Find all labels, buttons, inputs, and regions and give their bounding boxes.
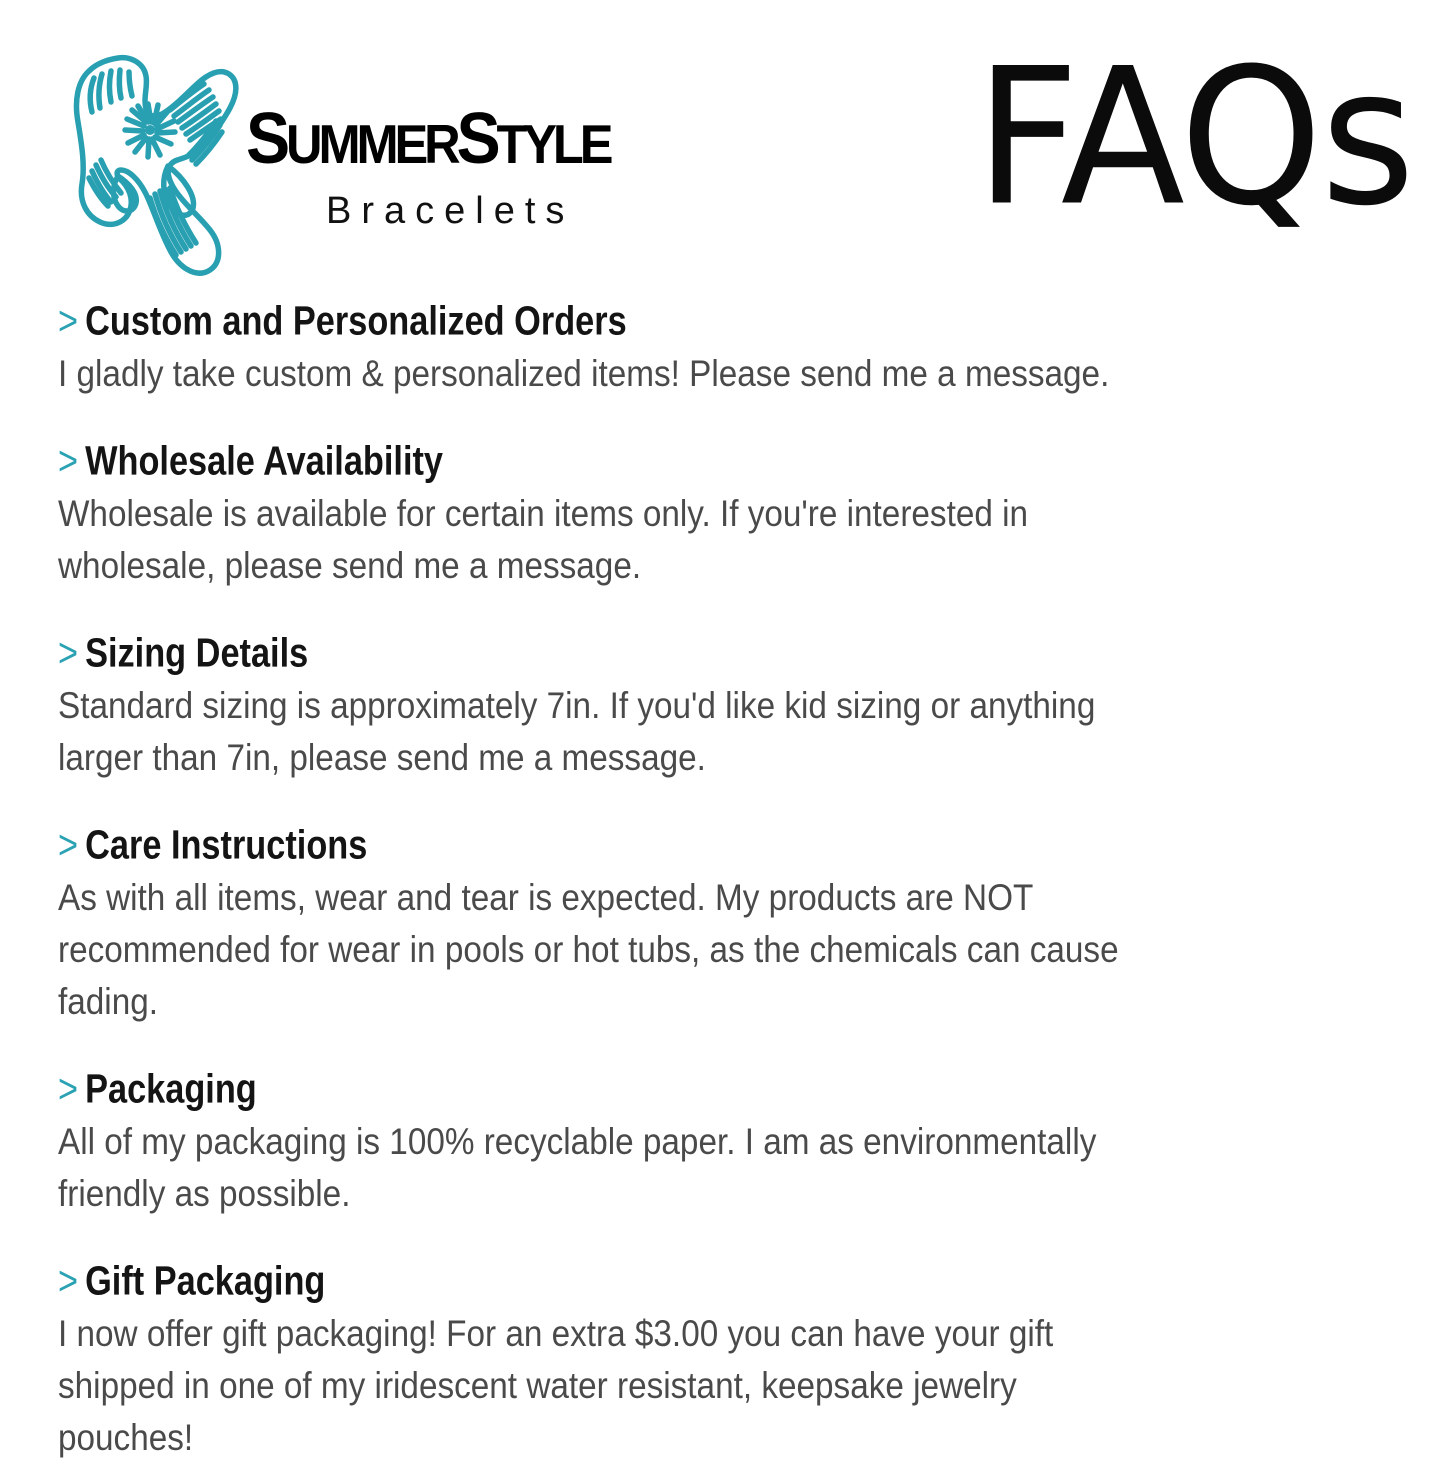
chevron-right-icon: > [58, 1067, 85, 1112]
faq-heading[interactable]: >Sizing Details [58, 628, 1096, 680]
faq-heading-label: Wholesale Availability [85, 439, 443, 484]
chevron-right-icon: > [58, 299, 85, 344]
faq-item-gift-packaging: >Gift Packaging I now offer gift packagi… [58, 1256, 1238, 1464]
faq-heading[interactable]: >Care Instructions [58, 820, 1096, 872]
faq-heading-label: Gift Packaging [85, 1259, 325, 1304]
brand-wordmark: SUMMERSTYLE Bracelets [246, 100, 666, 260]
faq-heading[interactable]: >Custom and Personalized Orders [58, 296, 1096, 348]
chevron-right-icon: > [58, 823, 85, 868]
brand-name-s2: S [456, 99, 496, 179]
faq-heading[interactable]: >Packaging [58, 1064, 1096, 1116]
faq-heading[interactable]: >Gift Packaging [58, 1256, 1096, 1308]
faq-item-packaging: >Packaging All of my packaging is 100% r… [58, 1064, 1238, 1220]
page-title-wrap: FAQs [975, 34, 1395, 239]
faq-item-sizing: >Sizing Details Standard sizing is appro… [58, 628, 1238, 784]
faq-body: Standard sizing is approximately 7in. If… [58, 680, 1120, 784]
faq-body: As with all items, wear and tear is expe… [58, 872, 1120, 1028]
page-header: SUMMERSTYLE Bracelets FAQs [0, 0, 1445, 292]
chevron-right-icon: > [58, 1259, 85, 1304]
chevron-right-icon: > [58, 631, 85, 676]
faq-page: SUMMERSTYLE Bracelets FAQs >Custom and P… [0, 0, 1445, 1445]
faq-body: Wholesale is available for certain items… [58, 488, 1120, 592]
brand-subtitle: Bracelets [326, 189, 666, 233]
chevron-right-icon: > [58, 439, 85, 484]
brand-name-ummer: UMMER [286, 113, 456, 175]
faq-heading-label: Packaging [85, 1067, 257, 1112]
faq-body: All of my packaging is 100% recyclable p… [58, 1116, 1120, 1220]
faq-body: I now offer gift packaging! For an extra… [58, 1308, 1120, 1464]
faq-item-wholesale: >Wholesale Availability Wholesale is ava… [58, 436, 1238, 592]
brand-name-tyle: TYLE [497, 113, 610, 175]
faq-item-care: >Care Instructions As with all items, we… [58, 820, 1238, 1028]
faq-heading-label: Care Instructions [85, 823, 367, 868]
faq-heading[interactable]: >Wholesale Availability [58, 436, 1096, 488]
starfish-icon [58, 26, 258, 288]
faq-item-custom-orders: >Custom and Personalized Orders I gladly… [58, 296, 1238, 400]
faq-heading-label: Custom and Personalized Orders [85, 299, 627, 344]
faq-list: >Custom and Personalized Orders I gladly… [58, 296, 1238, 1464]
page-title: FAQs [975, 34, 1403, 242]
faq-heading-label: Sizing Details [85, 631, 308, 676]
brand-logo: SUMMERSTYLE Bracelets [58, 26, 678, 288]
brand-name-s1: S [246, 99, 286, 179]
brand-name: SUMMERSTYLE [246, 100, 632, 183]
faq-body: I gladly take custom & personalized item… [58, 348, 1120, 400]
